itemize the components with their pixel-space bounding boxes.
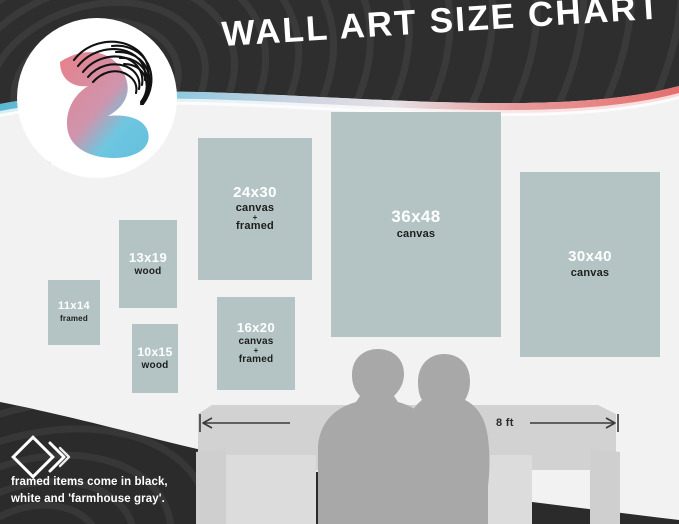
footnote-line-1: framed items come in black, [11, 474, 168, 491]
wall-art-size-chart-poster: 11x14framed13x19wood10x15wood24x30canvas… [0, 0, 679, 524]
footnote-text: framed items come in black, white and 'f… [11, 474, 168, 507]
stupell-logo-mark [0, 0, 679, 524]
footnote-line-2: white and 'farmhouse gray'. [11, 491, 168, 508]
logo-swoosh [60, 52, 149, 158]
measurement-label: 8 ft [496, 417, 514, 429]
